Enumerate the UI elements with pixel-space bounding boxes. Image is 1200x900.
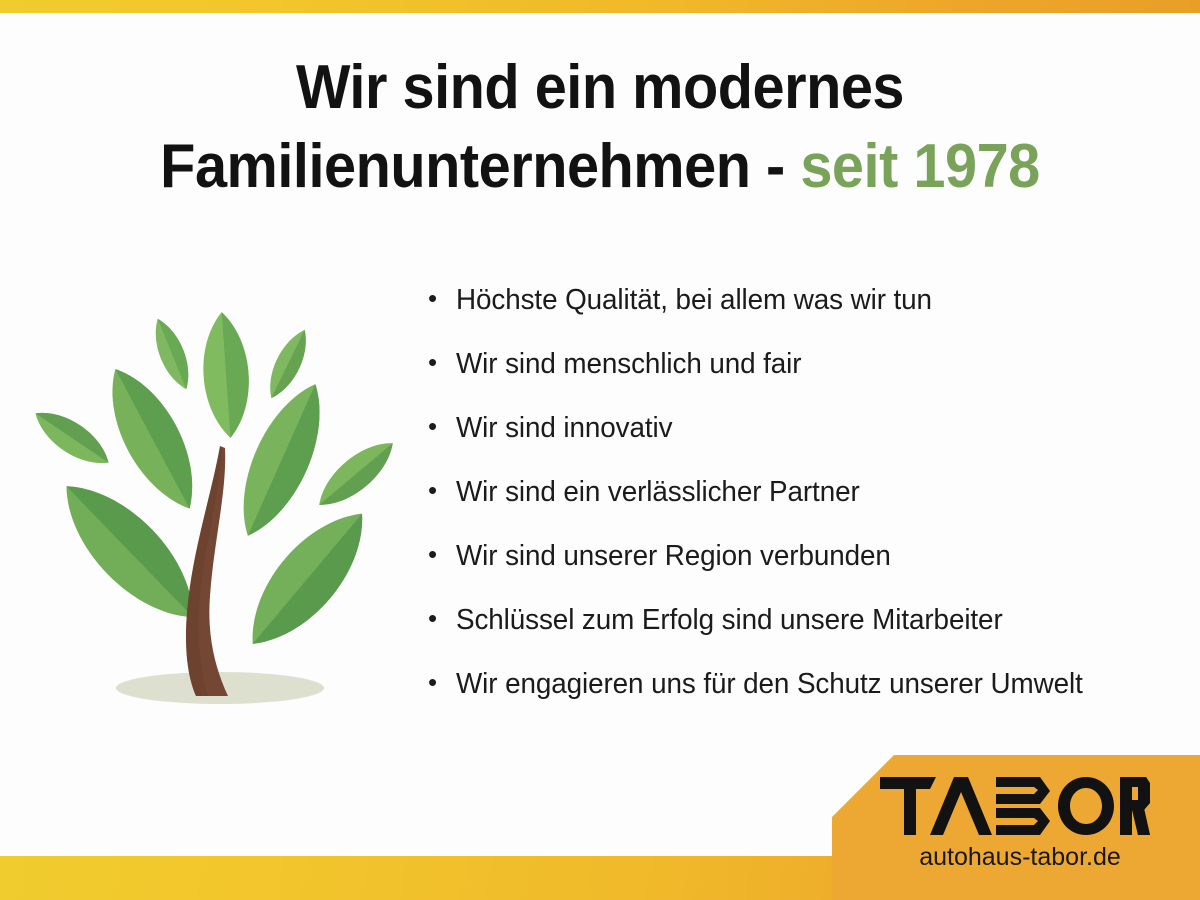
list-item: • Wir sind unserer Region verbunden [428,540,1188,604]
list-item: • Wir sind ein verlässlicher Partner [428,476,1188,540]
list-item-label: Schlüssel zum Erfolg sind unsere Mitarbe… [456,604,1003,637]
list-item-label: Wir sind menschlich und fair [456,348,801,381]
headline-line-1: Wir sind ein modernes [296,53,904,122]
list-item-label: Wir sind ein verlässlicher Partner [456,476,860,509]
list-item-label: Wir sind innovativ [456,412,672,445]
brand-logo-panel[interactable]: autohaus-tabor.de [832,755,1200,900]
list-item: • Schlüssel zum Erfolg sind unsere Mitar… [428,604,1188,668]
bullet-marker-icon: • [428,285,456,311]
list-item: • Wir sind menschlich und fair [428,348,1188,412]
tree-illustration [24,296,414,716]
list-item-label: Wir engagieren uns für den Schutz unsere… [456,668,1083,701]
list-item: • Wir sind innovativ [428,412,1188,476]
bullet-marker-icon: • [428,349,456,375]
headline-accent-year: seit 1978 [800,132,1039,201]
headline-line-2-main: Familienunternehmen - [160,132,800,201]
bullet-marker-icon: • [428,413,456,439]
page-title: Wir sind ein modernes Familienunternehme… [98,48,1102,207]
list-item-label: Wir sind unserer Region verbunden [456,540,891,573]
top-brand-strip [0,0,1200,13]
bullet-marker-icon: • [428,669,456,695]
slide-canvas: Wir sind ein modernes Familienunternehme… [0,0,1200,900]
tabor-wordmark-logo [880,777,1150,835]
list-item: • Höchste Qualität, bei allem was wir tu… [428,284,1188,348]
bullet-marker-icon: • [428,541,456,567]
list-item: • Wir engagieren uns für den Schutz unse… [428,668,1188,732]
list-item-label: Höchste Qualität, bei allem was wir tun [456,284,932,317]
website-url[interactable]: autohaus-tabor.de [880,843,1160,872]
value-bullet-list: • Höchste Qualität, bei allem was wir tu… [428,284,1188,732]
bullet-marker-icon: • [428,477,456,503]
bullet-marker-icon: • [428,605,456,631]
